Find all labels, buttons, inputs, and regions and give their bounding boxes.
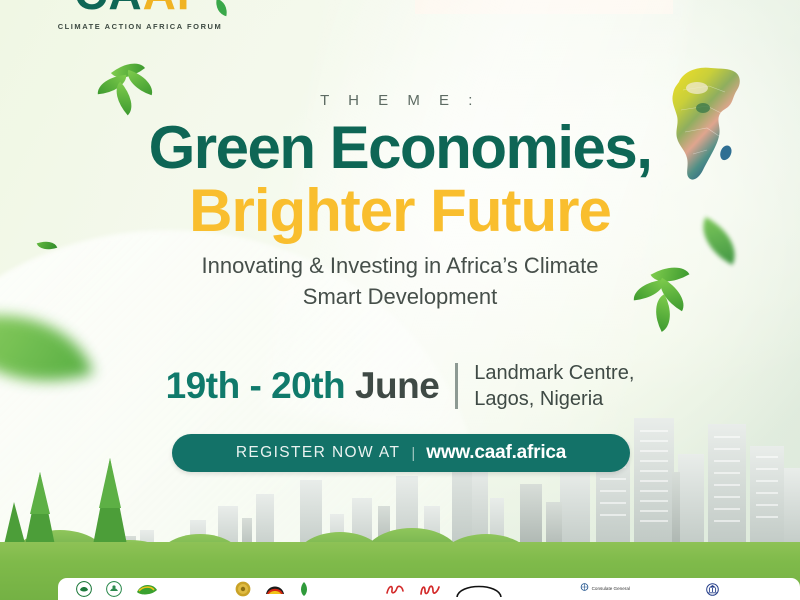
event-date-number: 19th - 20th — [166, 365, 346, 406]
event-date-venue: 19th - 20th June Landmark Centre, Lagos,… — [0, 360, 800, 412]
partner-swoosh-green[interactable] — [136, 581, 158, 597]
headline-line-2: Brighter Future — [0, 181, 800, 241]
poster-content: T H E M E : Green Economies, Brighter Fu… — [0, 0, 800, 600]
partner-arc-black[interactable] — [455, 581, 503, 597]
register-button-url[interactable]: www.caaf.africa — [426, 442, 566, 464]
poster-canvas: CAAF CLIMATE ACTION AFRICA FORUM T H E M… — [0, 0, 800, 600]
register-button-separator: | — [411, 445, 415, 462]
partner-seal-navy[interactable] — [706, 581, 719, 597]
partner-flag-german[interactable] — [265, 581, 285, 597]
partner-consulate-general[interactable]: Consulate General — [580, 581, 630, 597]
venue-line-2: Lagos, Nigeria — [474, 386, 634, 412]
event-date: 19th - 20th June — [166, 365, 440, 407]
subtitle: Innovating & Investing in Africa’s Clima… — [0, 250, 800, 312]
partner-script-red-2[interactable] — [419, 581, 441, 597]
venue-line-1: Landmark Centre, — [474, 360, 634, 386]
date-venue-divider — [455, 363, 458, 409]
register-now-button[interactable]: REGISTER NOW AT | www.caaf.africa — [172, 434, 630, 472]
partner-seal-gold[interactable] — [235, 581, 251, 597]
subtitle-line-1: Innovating & Investing in Africa’s Clima… — [0, 250, 800, 281]
partner-seal-green-1[interactable] — [76, 581, 92, 597]
headline-line-1: Green Economies, — [0, 118, 800, 178]
partner-consulate-label: Consulate General — [592, 586, 630, 591]
partner-logo-bar: Consulate General — [58, 578, 800, 600]
partner-seal-green-2[interactable] — [106, 581, 122, 597]
event-venue: Landmark Centre, Lagos, Nigeria — [474, 360, 634, 412]
theme-kicker: T H E M E : — [0, 92, 800, 109]
register-button-label: REGISTER NOW AT — [236, 444, 401, 462]
subtitle-line-2: Smart Development — [0, 281, 800, 312]
partner-leaf-green[interactable] — [299, 581, 309, 597]
event-date-month: June — [355, 365, 439, 406]
partner-script-red-1[interactable] — [385, 581, 405, 597]
